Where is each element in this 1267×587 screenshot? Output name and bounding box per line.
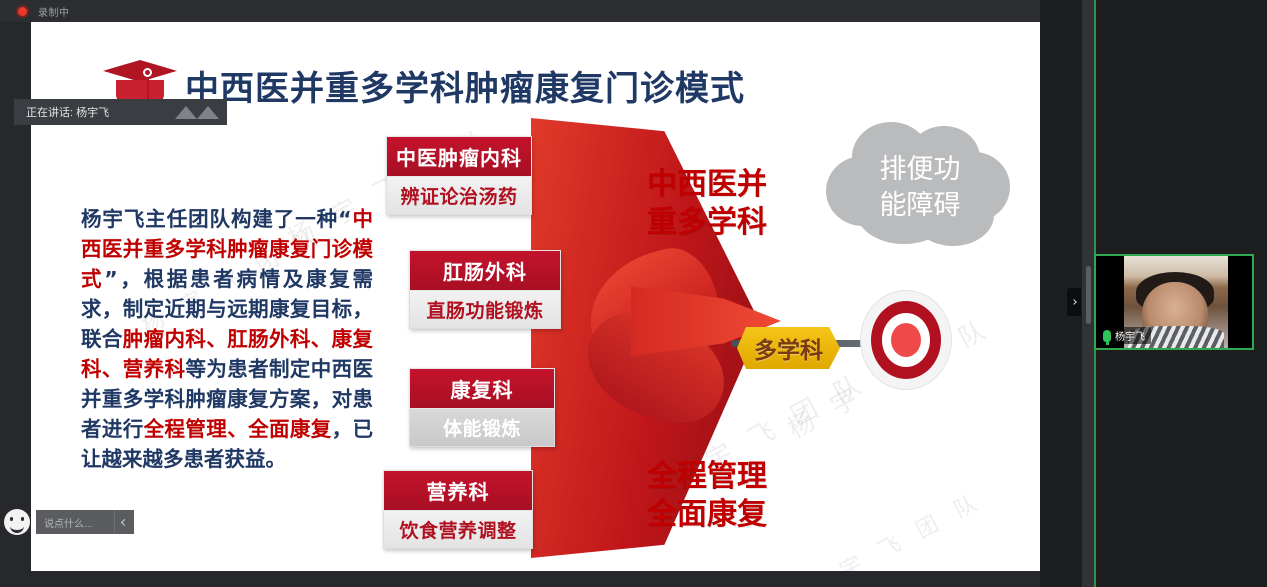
chat-input[interactable]: 说点什么... <box>36 510 114 534</box>
smiley-face-icon[interactable] <box>4 509 30 535</box>
audio-waveform-icon <box>175 106 219 119</box>
thought-cloud-icon: 排便功 能障碍 <box>826 122 1014 250</box>
chevron-left-icon <box>121 518 128 525</box>
sidebar-scrollbar-thumb[interactable] <box>1086 266 1091 324</box>
bullseye-target-icon <box>860 290 952 390</box>
recording-indicator-icon[interactable] <box>16 5 29 18</box>
multidisciplinary-badge: 多学科 <box>737 327 840 369</box>
page-title: 中西医并重多学科肿瘤康复门诊模式 <box>185 61 745 110</box>
participant-name-badge: 杨宇飞 <box>1100 327 1151 344</box>
department-treatment: 辨证论治汤药 <box>386 177 532 215</box>
recording-label: 录制中 <box>38 4 70 19</box>
department-name: 中医肿瘤内科 <box>386 136 532 177</box>
chevron-right-icon <box>1071 299 1077 305</box>
participant-video-tile[interactable]: 杨宇飞 <box>1094 254 1254 350</box>
department-treatment: 体能锻炼 <box>409 409 555 447</box>
department-name: 肛肠外科 <box>409 250 561 291</box>
recording-bar: 录制中 <box>0 0 1040 22</box>
chat-collapse-button[interactable] <box>114 510 134 534</box>
body-segment: 杨宇飞主任团队构建了一种“ <box>81 207 352 231</box>
department-name: 营养科 <box>383 470 533 511</box>
department-card: 中医肿瘤内科 辨证论治汤药 <box>386 136 532 215</box>
heading-full-management: 全程管理 全面康复 <box>647 458 767 534</box>
department-card: 肛肠外科 直肠功能锻炼 <box>409 250 561 329</box>
chat-bar: 说点什么... <box>4 509 134 535</box>
active-speaker-strip: 正在讲话: 杨宇飞 <box>14 99 227 125</box>
department-name: 康复科 <box>409 368 555 409</box>
microphone-on-icon <box>1103 330 1111 342</box>
slide-watermark: 杨 宇 飞 团 队 <box>795 483 987 571</box>
body-highlight: 全程管理、全面康复 <box>144 417 332 441</box>
active-speaker-label: 正在讲话: 杨宇飞 <box>26 104 109 120</box>
cloud-label: 排便功 能障碍 <box>826 152 1014 224</box>
slide-body-text: 杨宇飞主任团队构建了一种“中西医并重多学科肿瘤康复门诊模式”，根据患者病情及康复… <box>81 204 373 474</box>
chat-placeholder: 说点什么... <box>44 515 92 530</box>
department-card: 康复科 体能锻炼 <box>409 368 555 447</box>
department-treatment: 饮食营养调整 <box>383 511 533 549</box>
participant-name: 杨宇飞 <box>1115 328 1145 343</box>
department-treatment: 直肠功能锻炼 <box>409 291 561 329</box>
sidebar-expand-button[interactable] <box>1067 288 1081 316</box>
department-card: 营养科 饮食营养调整 <box>383 470 533 549</box>
meeting-window: 杨 宇 飞 团 队 杨 宇 飞 团 队 杨 宇 飞 团 队 杨 宇 飞 团 队 … <box>0 0 1267 587</box>
heading-tcm-multidisciplinary: 中西医并 重多学科 <box>647 166 767 242</box>
